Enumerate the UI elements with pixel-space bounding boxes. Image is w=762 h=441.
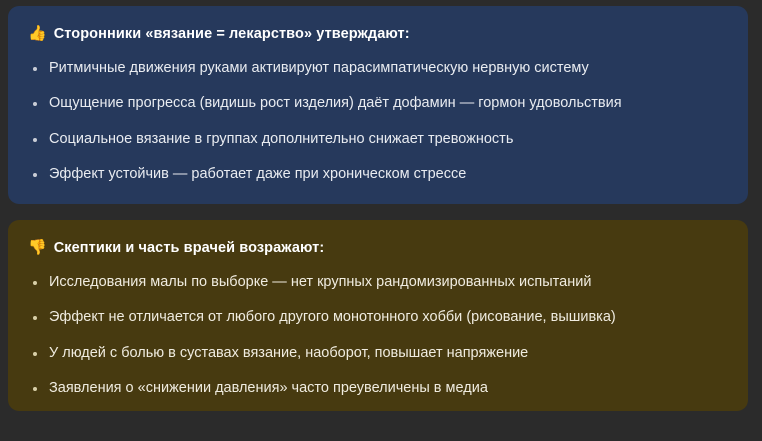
skeptics-bullet-list: Исследования малы по выборке — нет крупн… [26, 274, 726, 398]
supporters-card-header: 👍 Сторонники «вязание = лекарство» утвер… [28, 26, 726, 42]
skeptics-card: 👎 Скептики и часть врачей возражают: Исс… [8, 220, 748, 411]
list-item: Исследования малы по выборке — нет крупн… [26, 274, 726, 291]
bullet-dot-icon [33, 352, 37, 356]
list-item-text: Ощущение прогресса (видишь рост изделия)… [49, 95, 622, 111]
skeptics-card-header: 👎 Скептики и часть врачей возражают: [28, 240, 726, 256]
list-item: У людей с болью в суставах вязание, наоб… [26, 345, 726, 362]
bullet-dot-icon [33, 102, 37, 106]
list-item-text: Социальное вязание в группах дополнитель… [49, 131, 513, 147]
bullet-dot-icon [33, 316, 37, 320]
list-item-text: У людей с болью в суставах вязание, наоб… [49, 345, 528, 361]
list-item-text: Исследования малы по выборке — нет крупн… [49, 274, 591, 290]
list-item: Ритмичные движения руками активируют пар… [26, 60, 726, 77]
list-item: Эффект не отличается от любого другого м… [26, 309, 726, 326]
supporters-bullet-list: Ритмичные движения руками активируют пар… [26, 60, 726, 184]
list-item-text: Эффект устойчив — работает даже при хрон… [49, 166, 466, 182]
bullet-dot-icon [33, 281, 37, 285]
list-item: Ощущение прогресса (видишь рост изделия)… [26, 95, 726, 112]
list-item-text: Ритмичные движения руками активируют пар… [49, 60, 589, 76]
list-item: Эффект устойчив — работает даже при хрон… [26, 166, 726, 183]
list-item-text: Эффект не отличается от любого другого м… [49, 309, 616, 325]
bullet-dot-icon [33, 138, 37, 142]
bullet-dot-icon [33, 387, 37, 391]
thumbs-down-icon: 👎 [28, 240, 47, 255]
supporters-card: 👍 Сторонники «вязание = лекарство» утвер… [8, 6, 748, 204]
bullet-dot-icon [33, 67, 37, 71]
skeptics-card-title: Скептики и часть врачей возражают: [54, 240, 325, 256]
list-item-text: Заявления о «снижении давления» часто пр… [49, 380, 488, 396]
list-item: Социальное вязание в группах дополнитель… [26, 131, 726, 148]
thumbs-up-icon: 👍 [28, 26, 47, 41]
supporters-card-title: Сторонники «вязание = лекарство» утвержд… [54, 26, 410, 42]
content-area: 👍 Сторонники «вязание = лекарство» утвер… [0, 0, 762, 441]
bullet-dot-icon [33, 173, 37, 177]
list-item: Заявления о «снижении давления» часто пр… [26, 380, 726, 397]
